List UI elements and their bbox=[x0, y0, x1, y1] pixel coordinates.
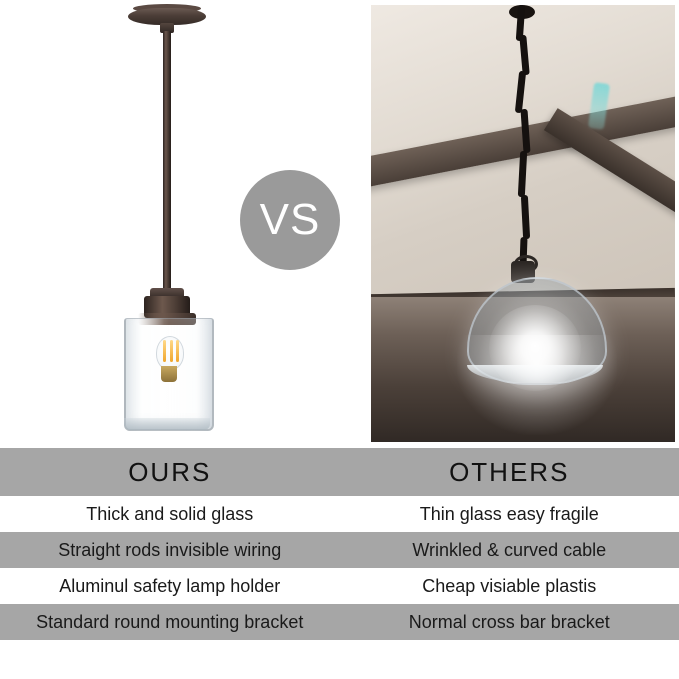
table-row: Thick and solid glass Thin glass easy fr… bbox=[0, 496, 679, 532]
others-product-image bbox=[371, 5, 675, 442]
cell-ours: Thick and solid glass bbox=[0, 504, 340, 525]
vs-badge: VS bbox=[240, 170, 340, 270]
filament-strand bbox=[170, 340, 173, 362]
filament-strand bbox=[163, 340, 166, 362]
cell-ours: Straight rods invisible wiring bbox=[0, 540, 340, 561]
bulb-base bbox=[161, 366, 177, 382]
cell-ours: Standard round mounting bracket bbox=[0, 612, 340, 633]
bulb-glow bbox=[489, 305, 581, 391]
header-ours: OURS bbox=[0, 457, 340, 488]
header-others: OTHERS bbox=[340, 457, 679, 488]
comparison-infographic: VS OURS OTHERS Thick and solid glass Thi… bbox=[0, 0, 679, 679]
cell-others: Wrinkled & curved cable bbox=[340, 540, 679, 561]
comparison-table: OURS OTHERS Thick and solid glass Thin g… bbox=[0, 448, 679, 679]
cell-others: Normal cross bar bracket bbox=[340, 612, 679, 633]
cell-others: Cheap visiable plastis bbox=[340, 576, 679, 597]
straight-rod bbox=[163, 31, 171, 293]
cell-ours: Aluminul safety lamp holder bbox=[0, 576, 340, 597]
filament-strand bbox=[176, 340, 179, 362]
table-row: Straight rods invisible wiring Wrinkled … bbox=[0, 532, 679, 568]
cell-others: Thin glass easy fragile bbox=[340, 504, 679, 525]
vs-label: VS bbox=[260, 195, 321, 245]
table-row: Aluminul safety lamp holder Cheap visiab… bbox=[0, 568, 679, 604]
comparison-images: VS bbox=[0, 0, 679, 448]
table-header-row: OURS OTHERS bbox=[0, 448, 679, 496]
table-row: Standard round mounting bracket Normal c… bbox=[0, 604, 679, 640]
glass-bottom-edge bbox=[124, 418, 210, 430]
